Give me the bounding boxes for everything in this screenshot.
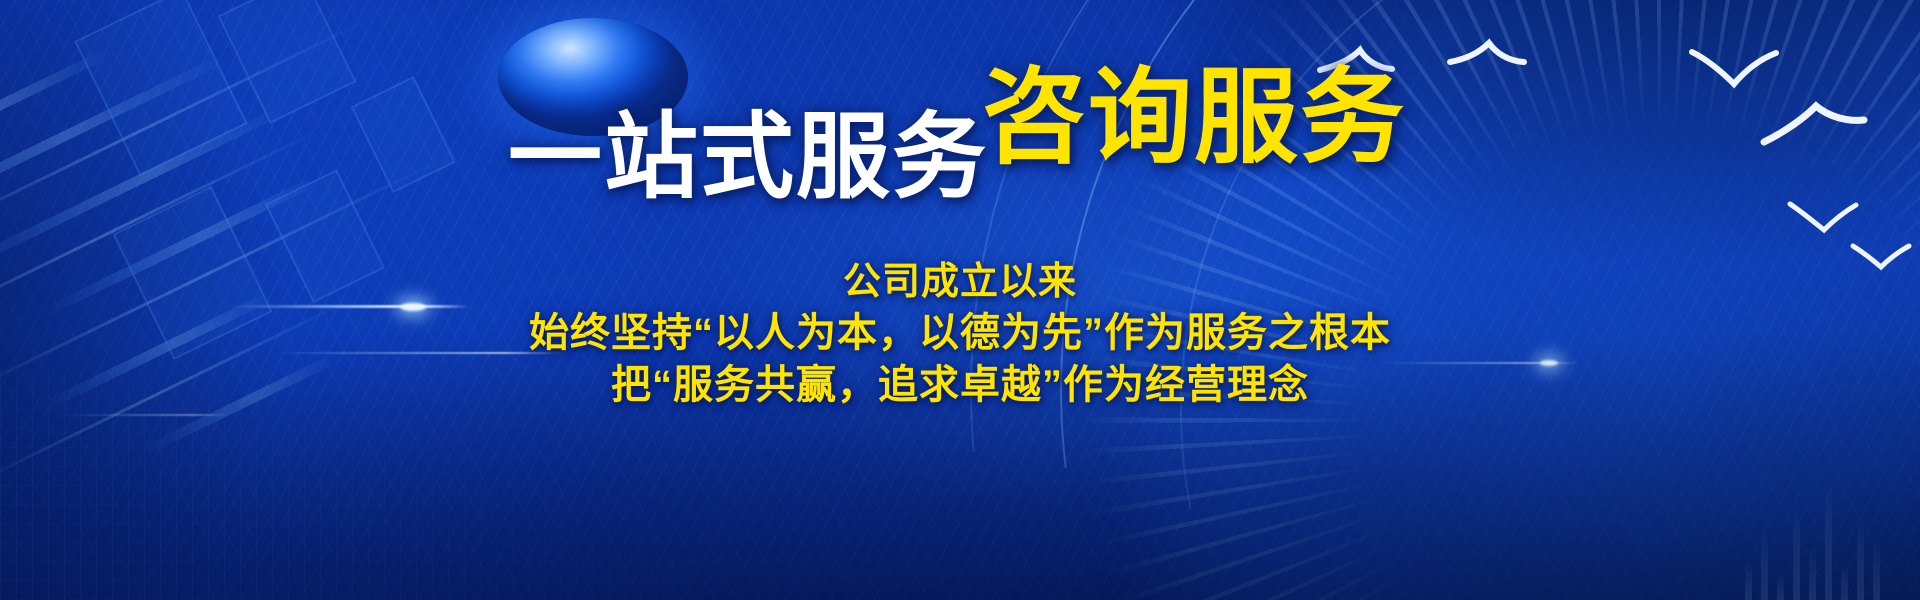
- bottom-right-bar-decoration: [1745, 450, 1880, 600]
- body-copy: 公司成立以来 始终坚持“以人为本，以德为先”作为服务之根本 把“服务共赢，追求卓…: [0, 258, 1920, 411]
- body-line-2: 始终坚持“以人为本，以德为先”作为服务之根本: [0, 307, 1920, 359]
- light-streak-4: [60, 414, 230, 416]
- headline: 一站式服务 咨询服务: [0, 74, 1920, 178]
- bird-icon: [1786, 198, 1860, 236]
- body-line-3: 把“服务共赢，追求卓越”作为经营理念: [0, 359, 1920, 411]
- headline-primary-text: 一站式服务: [508, 110, 988, 204]
- body-line-1: 公司成立以来: [0, 258, 1920, 307]
- headline-accent-text: 咨询服务: [982, 66, 1406, 170]
- banner-stage: 一站式服务 咨询服务 公司成立以来 始终坚持“以人为本，以德为先”作为服务之根本…: [0, 0, 1920, 600]
